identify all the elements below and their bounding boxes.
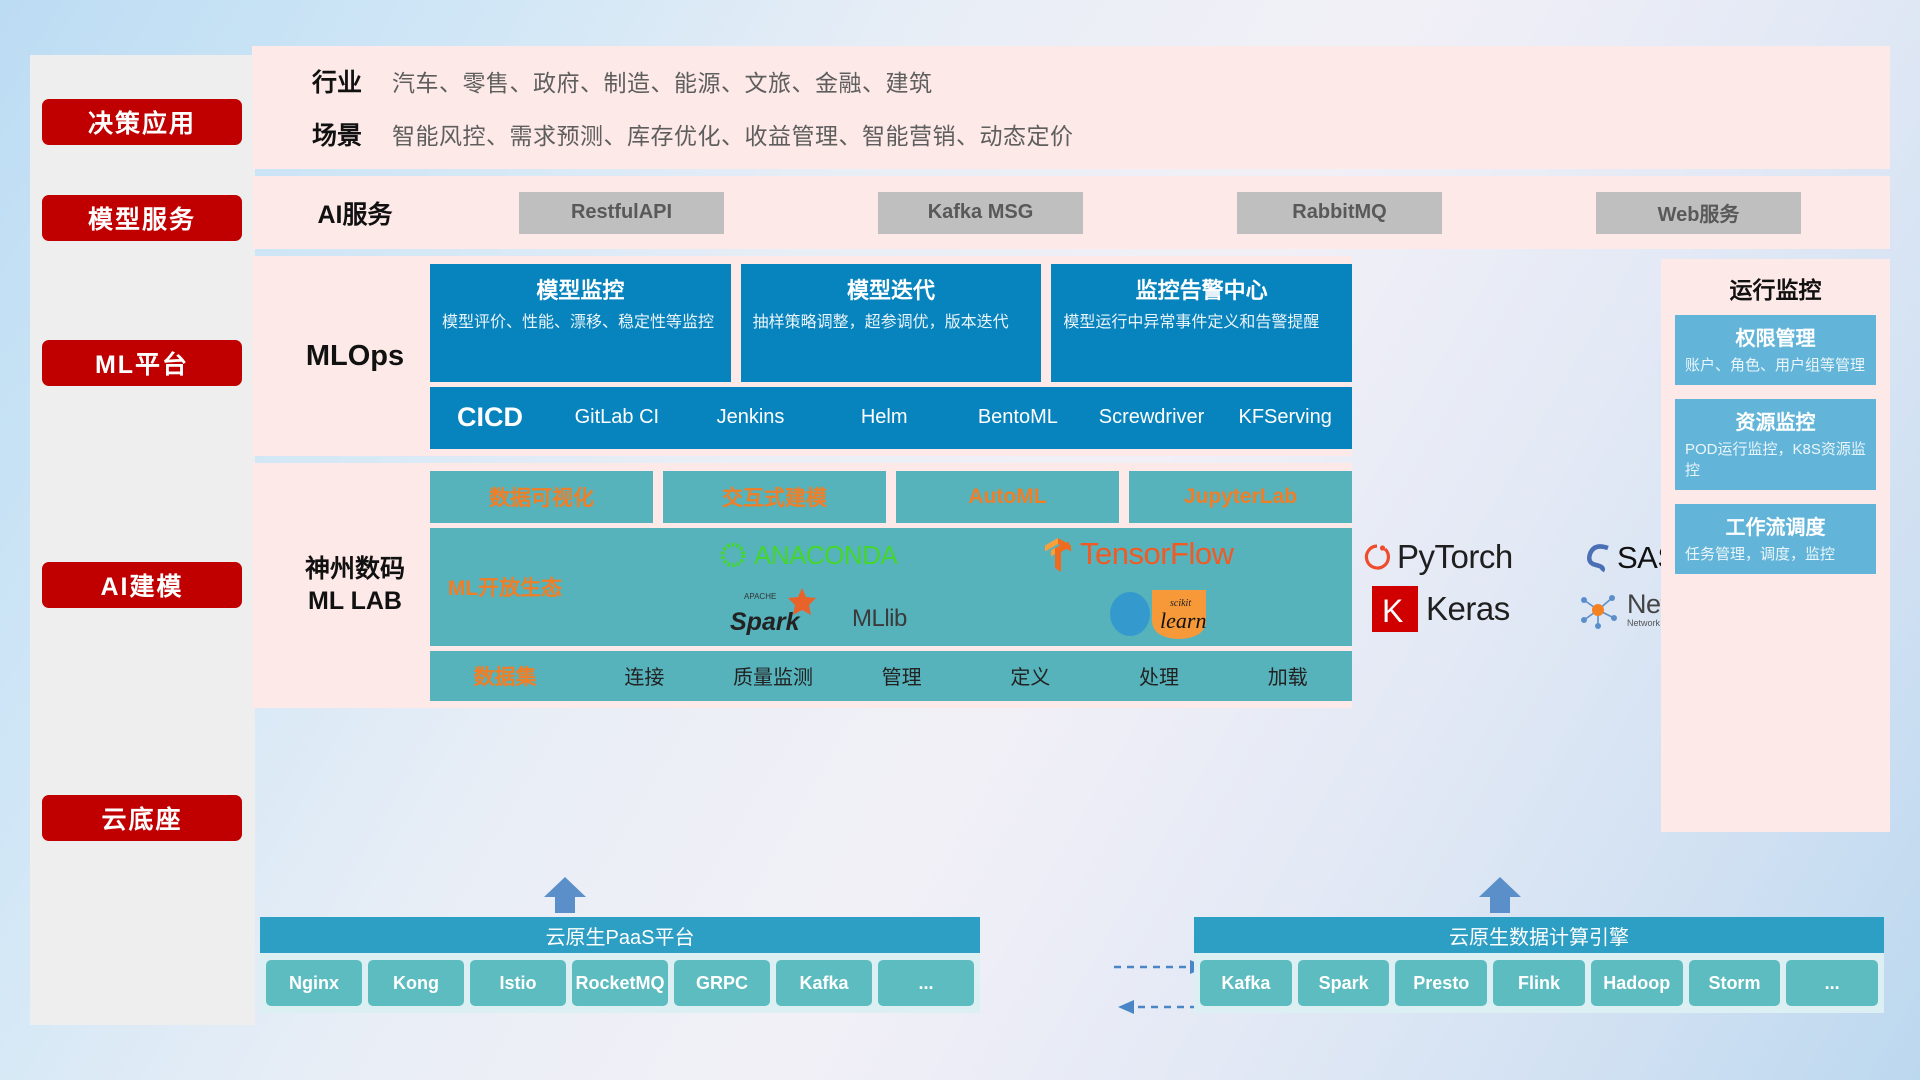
card-desc: POD运行监控，K8S资源监控 <box>1685 440 1866 481</box>
paas-up-arrow-icon <box>542 877 588 913</box>
spark-icon: APACHE Spark <box>730 586 850 638</box>
card-title: 监控告警中心 <box>1063 273 1340 305</box>
engine-group: 云原生数据计算引擎 Kafka Spark Presto Flink Hadoo… <box>1194 917 1884 1013</box>
monitor-card-permission[interactable]: 权限管理 账户、角色、用户组等管理 <box>1675 315 1876 385</box>
cicd-item-jenkins[interactable]: Jenkins <box>684 407 818 428</box>
card-title: 模型迭代 <box>753 273 1030 305</box>
svg-text:K: K <box>1382 593 1403 629</box>
ml-open-ecosystem: ML开放生态 ANACONDA APACHE <box>430 528 1352 646</box>
industry-key: 行业 <box>280 63 392 99</box>
mlops-label: MLOps <box>280 340 430 373</box>
card-title: 工作流调度 <box>1685 511 1866 540</box>
rail-chip-decision[interactable]: 决策应用 <box>42 99 242 145</box>
ml-lab-label-line2: ML LAB <box>308 587 402 615</box>
rail-chip-ml-platform[interactable]: ML平台 <box>42 340 242 386</box>
dataset-label: 数据集 <box>430 661 580 691</box>
keras-wordmark: Keras <box>1426 590 1510 628</box>
mlops-card-model-iteration[interactable]: 模型迭代 抽样策略调整，超参调优，版本迭代 <box>741 264 1042 382</box>
card-title: 模型监控 <box>442 273 719 305</box>
ml-lab-label: 神州数码 ML LAB <box>280 554 430 617</box>
monitor-column: 运行监控 权限管理 账户、角色、用户组等管理 资源监控 POD运行监控，K8S资… <box>1661 259 1890 832</box>
dataset-item-connect[interactable]: 连接 <box>580 661 709 690</box>
keras-icon: K <box>1372 586 1418 632</box>
dataset-item-load[interactable]: 加载 <box>1223 661 1352 690</box>
engine-chip-storm[interactable]: Storm <box>1689 960 1781 1006</box>
ml-lab-band: 神州数码 ML LAB 数据可视化 交互式建模 AutoML JupyterLa… <box>252 463 1890 708</box>
engine-title: 云原生数据计算引擎 <box>1194 917 1884 953</box>
mlops-card-model-monitor[interactable]: 模型监控 模型评价、性能、漂移、稳定性等监控 <box>430 264 731 382</box>
tensorflow-wordmark: TensorFlow <box>1080 536 1234 572</box>
card-title: 资源监控 <box>1685 406 1866 435</box>
cicd-item-kfserving[interactable]: KFServing <box>1218 407 1352 428</box>
card-title: 权限管理 <box>1685 322 1866 351</box>
anaconda-wordmark: ANACONDA <box>754 540 897 571</box>
paas-chip-istio[interactable]: Istio <box>470 960 566 1006</box>
industry-band: 行业 汽车、零售、政府、制造、能源、文旅、金融、建筑 场景 智能风控、需求预测、… <box>252 46 1890 169</box>
card-desc: 任务管理，调度，监控 <box>1685 545 1866 565</box>
dataset-bar: 数据集 连接 质量监测 管理 定义 处理 加载 <box>430 651 1352 701</box>
lab-tool-interactive-modeling[interactable]: 交互式建模 <box>663 471 886 523</box>
main-stack: 行业 汽车、零售、政府、制造、能源、文旅、金融、建筑 场景 智能风控、需求预测、… <box>252 46 1890 708</box>
ai-service-label: AI服务 <box>280 195 430 231</box>
lab-tool-data-viz[interactable]: 数据可视化 <box>430 471 653 523</box>
tensorflow-logo: TensorFlow <box>1042 536 1234 572</box>
scikit-learn-logo: scikit learn <box>1108 584 1248 640</box>
tensorflow-icon <box>1042 536 1076 572</box>
engine-chip-flink[interactable]: Flink <box>1493 960 1585 1006</box>
ai-chip-web-service[interactable]: Web服务 <box>1596 192 1801 234</box>
scenario-key: 场景 <box>280 116 392 152</box>
paas-chip-nginx[interactable]: Nginx <box>266 960 362 1006</box>
ai-chip-restfulapi[interactable]: RestfulAPI <box>519 192 724 234</box>
svg-text:learn: learn <box>1160 608 1206 633</box>
svg-text:Spark: Spark <box>730 608 801 636</box>
cicd-item-screwdriver[interactable]: Screwdriver <box>1085 407 1219 428</box>
sas-icon <box>1582 542 1616 574</box>
paas-chip-more[interactable]: ... <box>878 960 974 1006</box>
engine-chip-presto[interactable]: Presto <box>1395 960 1487 1006</box>
pytorch-logo: PyTorch <box>1362 538 1513 576</box>
card-desc: 模型运行中异常事件定义和告警提醒 <box>1063 312 1340 334</box>
pytorch-icon <box>1362 541 1392 573</box>
rail-chip-cloud-base[interactable]: 云底座 <box>42 795 242 841</box>
industry-value: 汽车、零售、政府、制造、能源、文旅、金融、建筑 <box>392 64 933 98</box>
ai-chip-rabbitmq[interactable]: RabbitMQ <box>1237 192 1442 234</box>
svg-text:APACHE: APACHE <box>744 592 776 601</box>
paas-title: 云原生PaaS平台 <box>260 917 980 953</box>
engine-chip-more[interactable]: ... <box>1786 960 1878 1006</box>
engine-up-arrow-icon <box>1477 877 1523 913</box>
engine-chip-hadoop[interactable]: Hadoop <box>1591 960 1683 1006</box>
ml-open-ecosystem-label: ML开放生态 <box>430 572 580 602</box>
rail-chip-ai-modeling[interactable]: AI建模 <box>42 562 242 608</box>
cloud-base-section: 云原生PaaS平台 Nginx Kong Istio RocketMQ GRPC… <box>252 885 1890 1035</box>
paas-group: 云原生PaaS平台 Nginx Kong Istio RocketMQ GRPC… <box>260 917 980 1013</box>
cicd-item-bentoml[interactable]: BentoML <box>951 407 1085 428</box>
monitor-card-workflow[interactable]: 工作流调度 任务管理，调度，监控 <box>1675 504 1876 574</box>
left-rail: 决策应用 模型服务 ML平台 AI建模 云底座 <box>30 55 255 1025</box>
lab-tool-automl[interactable]: AutoML <box>896 471 1119 523</box>
scikit-learn-icon: scikit learn <box>1108 584 1248 640</box>
ml-lab-label-line1: 神州数码 <box>305 555 405 583</box>
card-desc: 账户、角色、用户组等管理 <box>1685 356 1866 376</box>
spark-mllib-logo: APACHE Spark MLlib <box>730 586 907 638</box>
engine-chip-kafka[interactable]: Kafka <box>1200 960 1292 1006</box>
keras-logo: K Keras <box>1372 586 1510 632</box>
engine-chip-spark[interactable]: Spark <box>1298 960 1390 1006</box>
monitor-card-resource[interactable]: 资源监控 POD运行监控，K8S资源监控 <box>1675 399 1876 490</box>
anaconda-logo: ANACONDA <box>718 540 897 571</box>
mlops-band: MLOps 模型监控 模型评价、性能、漂移、稳定性等监控 模型迭代 抽样策略调整… <box>252 256 1890 456</box>
paas-chip-grpc[interactable]: GRPC <box>674 960 770 1006</box>
mllib-wordmark: MLlib <box>852 605 907 633</box>
scenario-row: 场景 智能风控、需求预测、库存优化、收益管理、智能营销、动态定价 <box>280 116 1890 152</box>
card-desc: 抽样策略调整，超参调优，版本迭代 <box>753 312 1030 334</box>
mlops-card-alert-center[interactable]: 监控告警中心 模型运行中异常事件定义和告警提醒 <box>1051 264 1352 382</box>
paas-chip-kafka[interactable]: Kafka <box>776 960 872 1006</box>
cicd-title: CICD <box>430 402 550 433</box>
dataset-item-manage[interactable]: 管理 <box>837 661 966 690</box>
networkx-icon <box>1576 590 1624 630</box>
anaconda-icon <box>718 540 748 570</box>
scenario-value: 智能风控、需求预测、库存优化、收益管理、智能营销、动态定价 <box>392 117 1074 151</box>
cicd-item-helm[interactable]: Helm <box>817 407 951 428</box>
industry-row: 行业 汽车、零售、政府、制造、能源、文旅、金融、建筑 <box>280 63 1890 99</box>
card-desc: 模型评价、性能、漂移、稳定性等监控 <box>442 312 719 334</box>
cicd-bar: CICD GitLab CI Jenkins Helm BentoML Scre… <box>430 387 1352 449</box>
paas-chip-kong[interactable]: Kong <box>368 960 464 1006</box>
rail-chip-model-service[interactable]: 模型服务 <box>42 195 242 241</box>
dataset-item-define[interactable]: 定义 <box>966 661 1095 690</box>
lab-tool-jupyterlab[interactable]: JupyterLab <box>1129 471 1352 523</box>
paas-chip-rocketmq[interactable]: RocketMQ <box>572 960 668 1006</box>
cicd-item-gitlab-ci[interactable]: GitLab CI <box>550 407 684 428</box>
ai-service-band: AI服务 RestfulAPI Kafka MSG RabbitMQ Web服务 <box>252 176 1890 249</box>
dataset-item-quality[interactable]: 质量监测 <box>709 661 838 690</box>
dataset-item-process[interactable]: 处理 <box>1095 661 1224 690</box>
monitor-column-title: 运行监控 <box>1661 259 1890 315</box>
ai-chip-kafka-msg[interactable]: Kafka MSG <box>878 192 1083 234</box>
pytorch-wordmark: PyTorch <box>1397 538 1513 576</box>
